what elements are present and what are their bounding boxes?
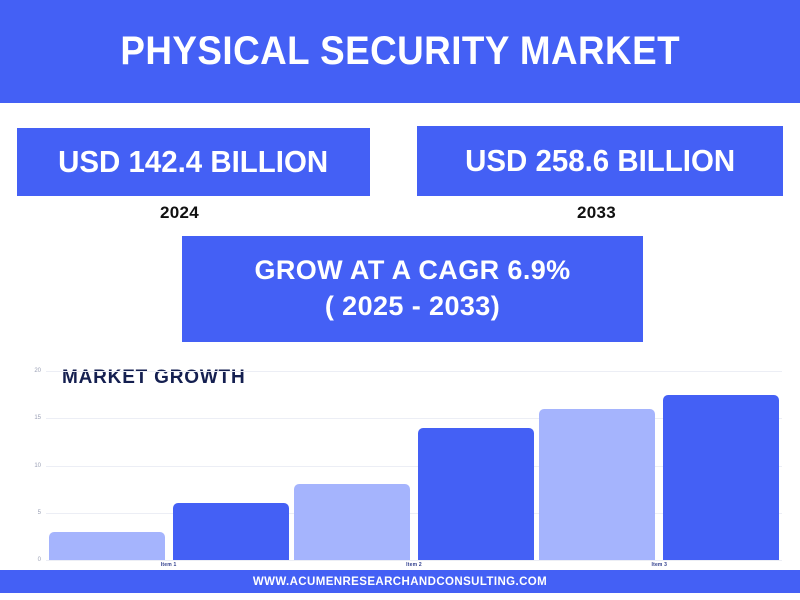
gridline: 0 [46,560,782,561]
footer-url: WWW.ACUMENRESEARCHANDCONSULTING.COM [253,576,547,588]
cagr-box: GROW AT A CAGR 6.9% ( 2025 - 2033) [182,236,643,342]
stat-box-base-year: USD 142.4 BILLION [17,128,370,196]
infographic-canvas: PHYSICAL SECURITY MARKET USD 142.4 BILLI… [0,0,800,600]
stat-value-forecast-year: USD 258.6 BILLION [465,143,735,179]
chart-bar [294,484,410,560]
y-axis-tick-label: 0 [38,557,41,563]
chart-bar [418,428,534,560]
y-axis-tick-label: 20 [34,368,41,374]
stat-year-base: 2024 [160,203,199,223]
chart-bar [663,395,779,560]
y-axis-tick-label: 15 [34,415,41,421]
chart-bars-layer [46,371,782,560]
header-band: PHYSICAL SECURITY MARKET [0,0,800,103]
chart-bar [173,503,289,560]
x-axis-category-label: Item 2 [406,562,422,568]
stat-value-base-year: USD 142.4 BILLION [58,144,328,180]
chart-bar [539,409,655,560]
cagr-rate-line: GROW AT A CAGR 6.9% [254,254,570,288]
stat-year-forecast: 2033 [577,203,616,223]
chart-plot-area: 05101520 Item 1Item 2Item 3 [46,371,782,560]
stat-box-forecast-year: USD 258.6 BILLION [417,126,783,196]
chart-bar [49,532,165,560]
footer-band: WWW.ACUMENRESEARCHANDCONSULTING.COM [0,570,800,593]
y-axis-tick-label: 5 [38,510,41,516]
page-title: PHYSICAL SECURITY MARKET [120,29,680,74]
cagr-period-line: ( 2025 - 2033) [325,290,500,324]
y-axis-tick-label: 10 [34,463,41,469]
market-growth-chart: MARKET GROWTH 05101520 Item 1Item 2Item … [0,360,800,572]
x-axis-category-label: Item 1 [161,562,177,568]
x-axis-category-label: Item 3 [652,562,668,568]
